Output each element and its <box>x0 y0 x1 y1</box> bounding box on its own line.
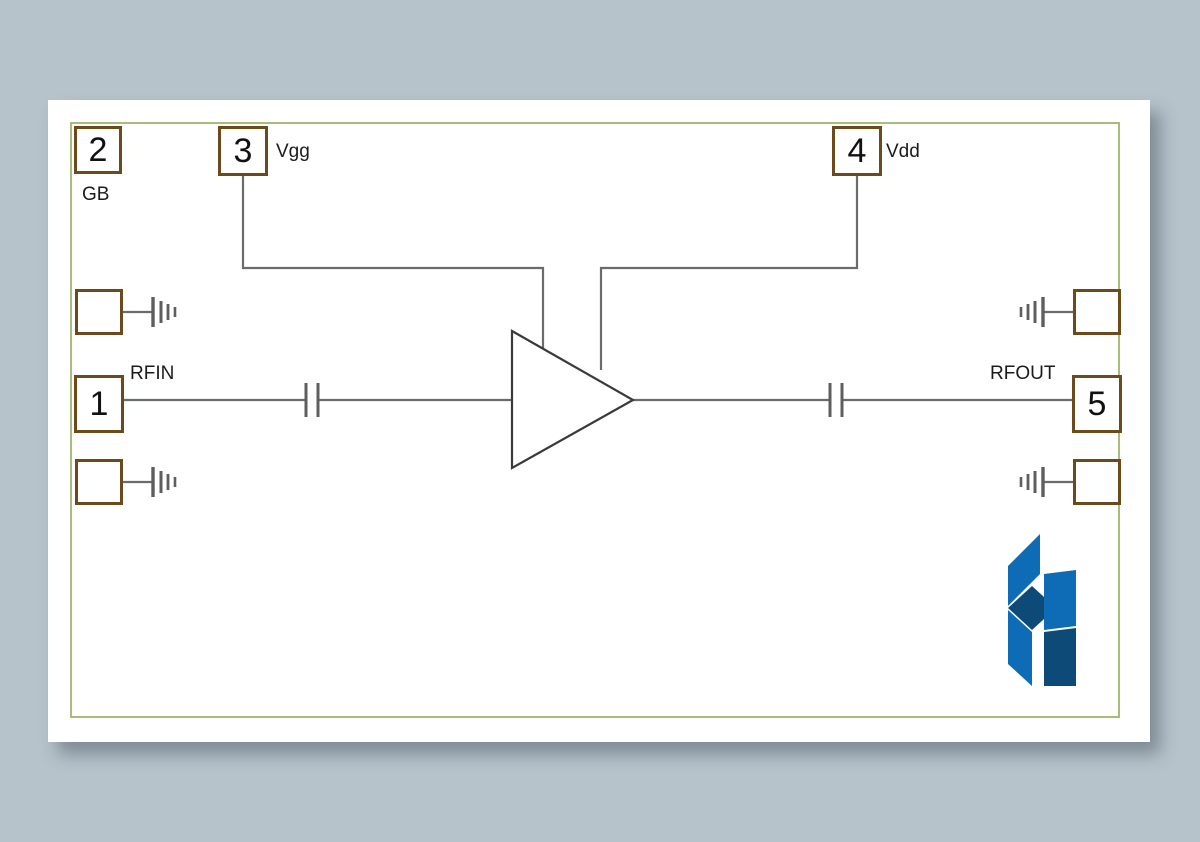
schematic-page: 2 3 4 1 5 GB Vgg Vdd RFIN RFOUT <box>0 0 1200 842</box>
ground-pad-top-right[interactable] <box>1073 289 1121 335</box>
ground-symbol-bottom-right <box>1021 467 1043 497</box>
pin-box-4[interactable]: 4 <box>832 126 882 176</box>
ground-pad-bottom-left[interactable] <box>75 459 123 505</box>
pin-box-2[interactable]: 2 <box>74 126 122 174</box>
pin-label-gb: GB <box>82 185 109 204</box>
wire-vdd <box>601 176 857 370</box>
pin-box-3[interactable]: 3 <box>218 126 268 176</box>
ground-pad-top-left[interactable] <box>75 289 123 335</box>
pin-label-vdd: Vdd <box>886 142 920 161</box>
qorvo-logo <box>988 530 1088 690</box>
amplifier-triangle <box>512 331 633 468</box>
pin-label-rfout: RFOUT <box>990 364 1055 383</box>
wire-vgg <box>243 176 543 352</box>
cap-input-symbol <box>306 383 318 417</box>
pin-label-rfin: RFIN <box>130 364 174 383</box>
pin-box-1[interactable]: 1 <box>74 375 124 433</box>
ground-pad-bottom-right[interactable] <box>1073 459 1121 505</box>
pin-label-vgg: Vgg <box>276 142 310 161</box>
pin-box-5[interactable]: 5 <box>1072 375 1122 433</box>
cap-output-symbol <box>830 383 842 417</box>
ground-symbol-top-right <box>1021 297 1043 327</box>
schematic-artwork <box>0 0 1200 842</box>
ground-symbol-top-left <box>153 297 175 327</box>
ground-symbol-bottom-left <box>153 467 175 497</box>
